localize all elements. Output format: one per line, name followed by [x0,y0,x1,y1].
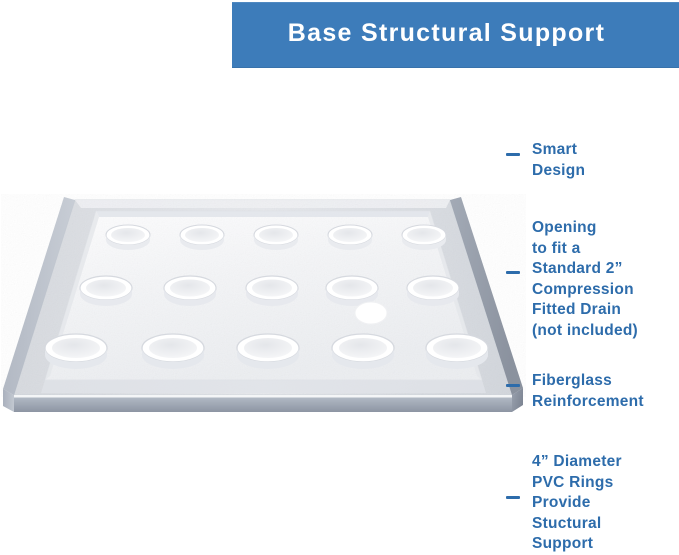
page-title: Base Structural Support [232,19,661,48]
shower-base-tray-image [0,180,530,440]
callout-dash-fiberglass-reinforcement [506,384,520,387]
callout-pvc-rings: 4” Diameter PVC Rings Provide Stuctural … [532,452,622,555]
callout-dash-drain-opening [506,271,520,274]
callout-drain-opening: Opening to fit a Standard 2” Compression… [532,218,638,341]
callout-dash-smart-design [506,153,520,156]
callout-smart-design: Smart Design [532,140,585,181]
callout-dash-pvc-rings [506,496,520,499]
tray-illustration [0,180,530,440]
drain-opening-hole [355,302,387,324]
callout-fiberglass-reinforcement: Fiberglass Reinforcement [532,371,644,412]
product-feature-graphic: Base Structural Support [0,0,679,555]
header-banner: Base Structural Support [232,2,679,68]
